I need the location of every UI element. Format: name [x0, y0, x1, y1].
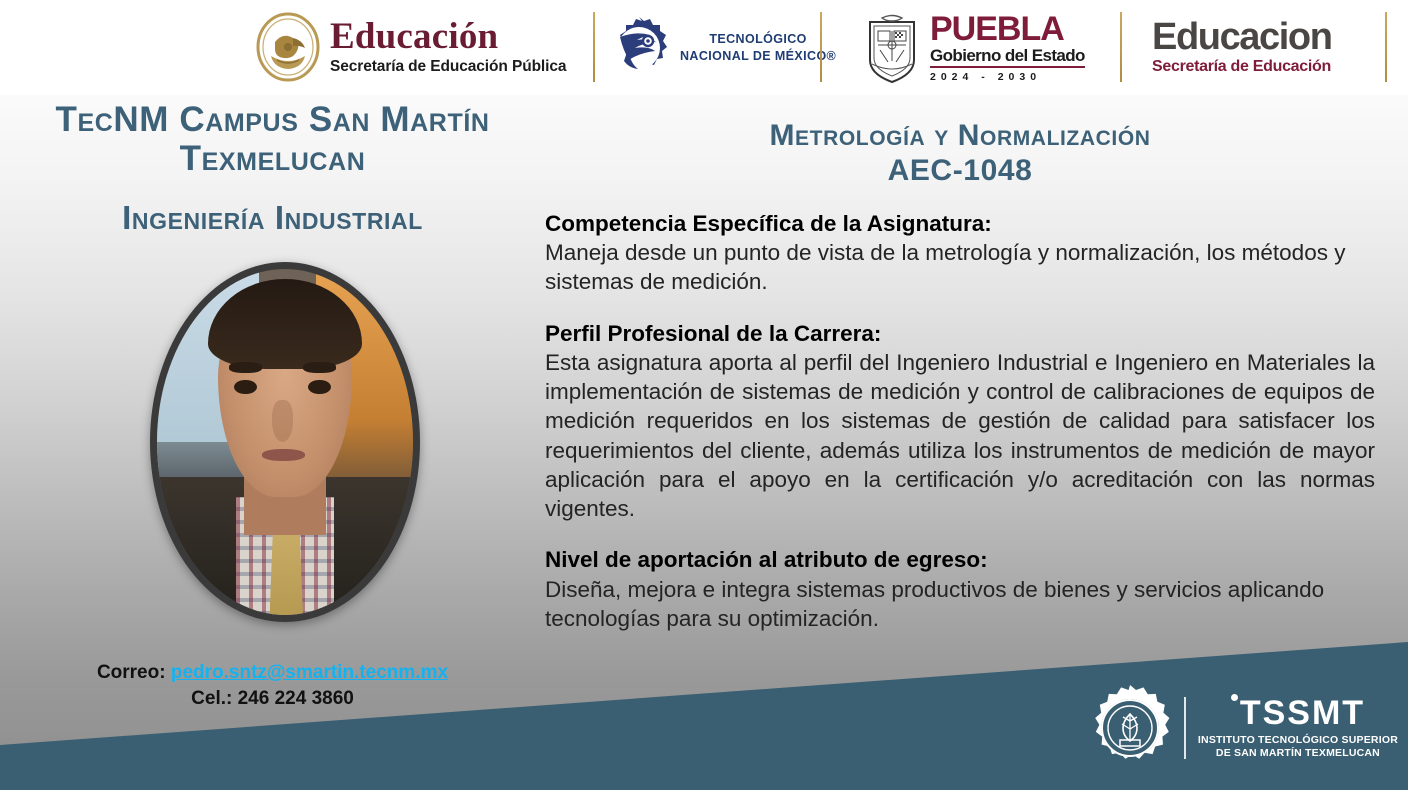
contact-phone: Cel.: 246 224 3860: [0, 686, 545, 712]
header-divider-4: [1385, 12, 1387, 82]
tecnm-logo-line1: TECNOLÓGICO: [680, 31, 836, 48]
header-divider-1: [593, 12, 595, 82]
header-logo-bar: Educación Secretaría de Educación Públic…: [0, 0, 1408, 95]
itssmt-logo: TSSMT INSTITUTO TECNOLÓGICO SUPERIOR DE …: [1086, 684, 1398, 772]
puebla-coat-of-arms-icon: [862, 12, 922, 84]
section-heading: Competencia Específica de la Asignatura:: [545, 209, 1375, 238]
instructor-photo: [150, 262, 420, 622]
subject-name: Metrología y Normalización: [545, 118, 1375, 153]
tecnm-logo-text: TECNOLÓGICO NACIONAL DE MÉXICO®: [680, 31, 836, 65]
contact-email-row: Correo: pedro.sntz@smartin.tecnm.mx: [0, 660, 545, 686]
instructor-photo-oval: [150, 262, 420, 622]
sep-logo-sub: Secretaría de Educación Pública: [330, 58, 566, 75]
slide-canvas: Educación Secretaría de Educación Públic…: [0, 0, 1408, 790]
contact-email-label: Correo:: [97, 662, 166, 683]
section-body: Diseña, mejora e integra sistemas produc…: [545, 575, 1375, 634]
subject-description: Competencia Específica de la Asignatura:…: [545, 209, 1375, 633]
section-nivel-aportacion: Nivel de aportación al atributo de egres…: [545, 545, 1375, 633]
tecnm-logo: TECNOLÓGICO NACIONAL DE MÉXICO®: [608, 15, 836, 80]
photo-background: [157, 269, 413, 615]
sep-logo-main: Educación: [330, 18, 566, 55]
header-divider-2: [820, 12, 822, 82]
tecnm-logo-line2: NACIONAL DE MÉXICO®: [680, 48, 836, 65]
subject-title: Metrología y Normalización AEC-1048: [545, 118, 1375, 189]
mexican-coat-of-arms-icon: [255, 12, 321, 82]
campus-title: TecNM Campus San Martín Texmelucan: [0, 100, 545, 178]
section-body: Maneja desde un punto de vista de la met…: [545, 238, 1375, 297]
tecnm-gear-eagle-icon: [608, 15, 670, 80]
itssmt-institution-line2: DE SAN MARTÍN TEXMELUCAN: [1198, 747, 1398, 760]
right-column: Metrología y Normalización AEC-1048 Comp…: [545, 118, 1375, 633]
itssmt-gear-seal-icon: [1086, 684, 1174, 772]
educacion-puebla-main: Educacion: [1152, 20, 1332, 55]
itssmt-acronym: TSSMT: [1240, 696, 1365, 730]
header-divider-3: [1120, 12, 1122, 82]
section-heading: Nivel de aportación al atributo de egres…: [545, 545, 1375, 574]
puebla-logo-years: 2024 - 2030: [930, 71, 1085, 83]
puebla-logo-main: PUEBLA: [930, 13, 1085, 45]
section-perfil: Perfil Profesional de la Carrera: Esta a…: [545, 319, 1375, 524]
itssmt-logo-divider: [1184, 697, 1186, 759]
career-title: Ingeniería Industrial: [0, 200, 545, 236]
subject-code: AEC-1048: [545, 153, 1375, 188]
educacion-puebla-logo: Educacion Secretaría de Educación: [1152, 20, 1332, 75]
educacion-puebla-sub: Secretaría de Educación: [1152, 59, 1332, 75]
left-column: TecNM Campus San Martín Texmelucan Ingen…: [0, 100, 545, 237]
itssmt-acronym-wrap: TSSMT: [1231, 696, 1365, 730]
itssmt-i-dot-icon: [1231, 694, 1238, 701]
itssmt-institution-name: INSTITUTO TECNOLÓGICO SUPERIOR DE SAN MA…: [1198, 734, 1398, 760]
itssmt-institution-line1: INSTITUTO TECNOLÓGICO SUPERIOR: [1198, 734, 1398, 747]
contact-email-link[interactable]: pedro.sntz@smartin.tecnm.mx: [171, 662, 448, 683]
sep-logo: Educación Secretaría de Educación Públic…: [255, 12, 566, 82]
section-heading: Perfil Profesional de la Carrera:: [545, 319, 1375, 348]
puebla-logo: PUEBLA Gobierno del Estado 2024 - 2030: [862, 12, 1085, 84]
puebla-logo-sub: Gobierno del Estado: [930, 47, 1085, 68]
section-body: Esta asignatura aporta al perfil del Ing…: [545, 348, 1375, 524]
contact-block: Correo: pedro.sntz@smartin.tecnm.mx Cel.…: [0, 660, 545, 711]
section-competencia: Competencia Específica de la Asignatura:…: [545, 209, 1375, 297]
